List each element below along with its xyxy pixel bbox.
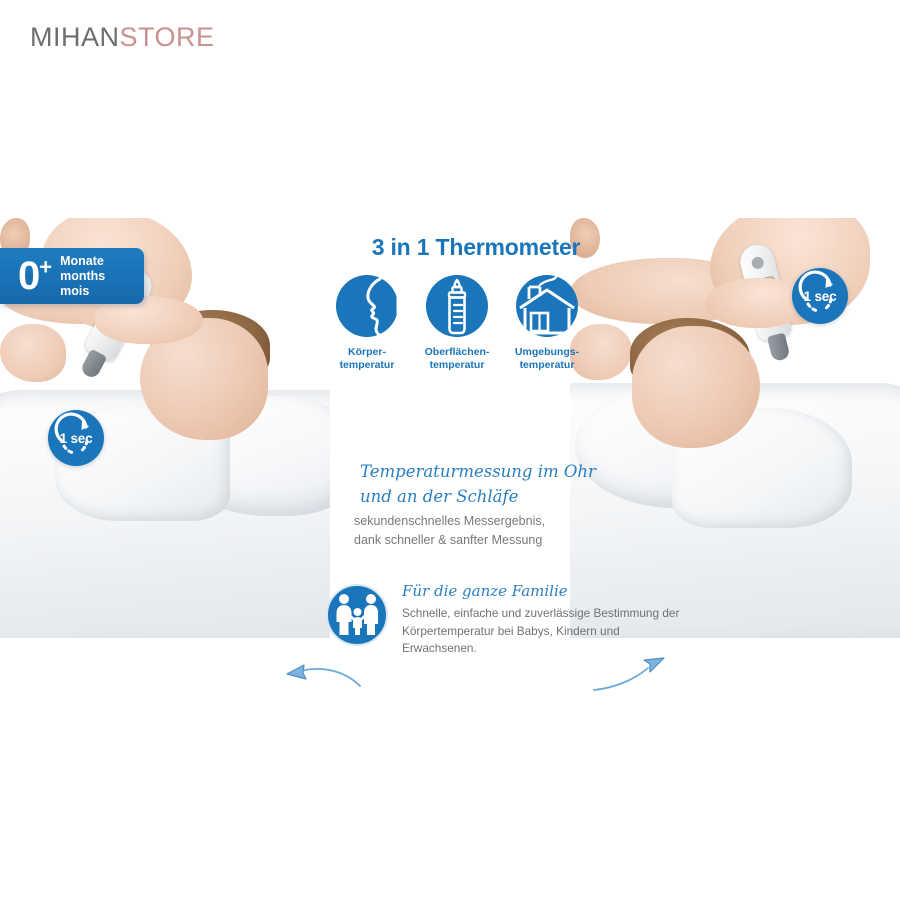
promo-banner: 1 sec bbox=[0, 218, 900, 648]
family-title: Für die ganze Familie bbox=[402, 582, 692, 600]
speed-badge-right: 1 sec bbox=[792, 268, 848, 324]
speed-badge-right-label: 1 sec bbox=[804, 289, 837, 304]
caption-line-1: Körper- bbox=[348, 346, 386, 358]
age-badge-value: 0 bbox=[18, 254, 39, 298]
logo-text-secondary: STORE bbox=[120, 22, 215, 52]
feature-body-temperature-caption: Körper- temperatur bbox=[328, 346, 406, 372]
store-logo[interactable]: MIHANSTORE bbox=[30, 22, 215, 53]
thermometer-probe-right bbox=[767, 333, 791, 363]
baby-bottle-glyph bbox=[426, 275, 488, 337]
feature-ambient-temperature-caption: Umgebungs- temperatur bbox=[508, 346, 586, 372]
speed-badge-left-label: 1 sec bbox=[60, 431, 93, 446]
pointer-arrow-right-icon bbox=[592, 656, 672, 700]
feature-icon-row: Körper- temperatur bbox=[328, 275, 586, 372]
family-description: Schnelle, einfache und zuverlässige Best… bbox=[402, 605, 692, 658]
measurement-script-text: Temperaturmessung im Ohr und an der Schl… bbox=[360, 460, 630, 510]
caption-line-1: Oberflächen- bbox=[425, 346, 490, 358]
feature-ambient-temperature: Umgebungs- temperatur bbox=[508, 275, 586, 372]
family-section: Für die ganze Familie Schnelle, einfache… bbox=[326, 580, 716, 658]
adult-finger-right bbox=[705, 278, 805, 328]
speed-badge-left: 1 sec bbox=[48, 410, 104, 466]
measurement-script-line-2: und an der Schläfe bbox=[360, 485, 630, 510]
family-description-line-2: Körpertemperatur bei Babys, Kindern und … bbox=[402, 624, 620, 656]
age-badge-plus: + bbox=[39, 255, 51, 280]
house-icon bbox=[516, 275, 578, 337]
age-badge: 0+ Monate months mois bbox=[0, 248, 144, 304]
family-description-line-1: Schnelle, einfache und zuverlässige Best… bbox=[402, 606, 679, 620]
measurement-script-line-1: Temperaturmessung im Ohr bbox=[360, 460, 630, 485]
feature-surface-temperature-caption: Oberflächen- temperatur bbox=[418, 346, 496, 372]
logo-text-primary: MIHAN bbox=[30, 22, 120, 52]
measurement-subtext: sekundenschnelles Messergebnis, dank sch… bbox=[354, 512, 644, 551]
caption-line-2: temperatur bbox=[340, 359, 395, 371]
baby-hand-left bbox=[0, 324, 66, 382]
family-glyph bbox=[328, 586, 386, 644]
head-profile-glyph bbox=[336, 275, 398, 337]
age-badge-words: Monate months mois bbox=[60, 254, 105, 299]
family-text-block: Für die ganze Familie Schnelle, einfache… bbox=[402, 580, 692, 658]
feature-surface-temperature: Oberflächen- temperatur bbox=[418, 275, 496, 372]
caption-line-1: Umgebungs- bbox=[515, 346, 579, 358]
age-badge-fr: mois bbox=[60, 284, 105, 299]
product-banner-page: MIHANSTORE bbox=[0, 0, 900, 900]
center-content: 3 in 1 Thermometer Körper- temperatur bbox=[326, 218, 626, 372]
feature-body-temperature: Körper- temperatur bbox=[328, 275, 406, 372]
measurement-subtext-line-1: sekundenschnelles Messergebnis, bbox=[354, 512, 644, 531]
age-badge-de: Monate bbox=[60, 254, 105, 269]
pointer-arrow-left-icon bbox=[282, 658, 362, 698]
thermometer-probe-left bbox=[79, 349, 107, 380]
page-title: 3 in 1 Thermometer bbox=[326, 234, 626, 261]
caption-line-2: temperatur bbox=[520, 359, 575, 371]
family-icon bbox=[326, 584, 388, 646]
thermometer-button-right bbox=[750, 256, 765, 271]
measurement-subtext-line-2: dank schneller & sanfter Messung bbox=[354, 531, 644, 550]
age-badge-en: months bbox=[60, 269, 105, 284]
baby-head-right bbox=[632, 326, 760, 448]
baby-bottle-icon bbox=[426, 275, 488, 337]
head-profile-icon bbox=[336, 275, 398, 337]
age-badge-number: 0+ bbox=[18, 256, 51, 296]
caption-line-2: temperatur bbox=[430, 359, 485, 371]
house-glyph bbox=[516, 275, 578, 337]
